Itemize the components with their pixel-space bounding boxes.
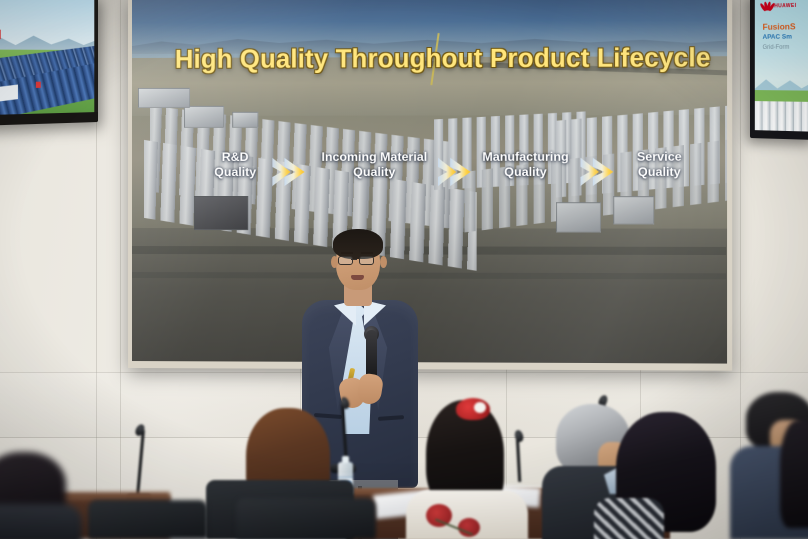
attendee-long-black-hair — [600, 412, 728, 539]
flow-stage-line2: Quality — [615, 165, 703, 180]
flow-stage-rnd: R&D Quality — [196, 150, 274, 180]
flow-stage-manufacturing: Manufacturing Quality — [469, 150, 583, 180]
flow-stage-line2: Quality — [469, 165, 583, 180]
monitor-right-line2: APAC Sm — [763, 33, 792, 40]
slide-title: High Quality Throughout Product Lifecycl… — [174, 44, 712, 75]
flow-stage-line2: Quality — [196, 165, 274, 180]
attendee-chair — [88, 500, 208, 539]
eyeglasses-icon — [338, 256, 353, 265]
attendee-edge-right — [780, 420, 808, 539]
monitor-right: HUAWEI FusionS APAC Sm Grid-Form — [750, 0, 808, 140]
monitor-left — [0, 0, 98, 126]
huawei-flower-icon — [762, 1, 773, 11]
flow-stage-line1: R&D — [196, 150, 274, 165]
chevron-arrow-icon — [270, 152, 310, 192]
flow-stage-line1: Manufacturing — [469, 150, 583, 165]
flow-stage-service: Service Quality — [615, 150, 703, 180]
battery-cabinet — [232, 112, 258, 128]
speaker-mouth — [351, 275, 364, 280]
attendee-floral-blouse — [412, 398, 530, 539]
projection-screen-surface: High Quality Throughout Product Lifecycl… — [132, 0, 727, 364]
eyeglasses-icon — [359, 256, 374, 265]
chevron-arrow-icon — [578, 152, 619, 192]
monitor-left-screen — [0, 0, 94, 116]
speaker-eyebrow — [361, 252, 373, 254]
projection-screen: High Quality Throughout Product Lifecycl… — [128, 0, 732, 371]
attendee-clothing — [594, 498, 664, 539]
battery-cabinet — [138, 88, 190, 108]
eyeglasses-bridge — [351, 259, 357, 260]
monitor-right-line3: Grid-Form — [763, 45, 790, 51]
slide-process-flow: R&D Quality Incoming Material Quality — [190, 143, 718, 198]
battery-cabinet — [194, 196, 248, 230]
speaker-ear — [331, 256, 338, 268]
pv-marker — [0, 30, 1, 40]
monitor-right-line1: FusionS — [763, 21, 796, 32]
attendee-hair — [780, 420, 808, 528]
speaker-eyebrow — [341, 252, 353, 254]
huawei-wordmark: HUAWEI — [774, 3, 796, 10]
huawei-logo: HUAWEI — [762, 1, 797, 12]
attendee-chair — [236, 498, 376, 539]
wall-seam — [120, 0, 121, 539]
battery-cabinet — [184, 106, 224, 128]
flow-stage-line1: Service — [615, 150, 703, 165]
monitor-right-cabinets — [755, 101, 808, 132]
battery-cabinet — [556, 202, 601, 232]
flow-stage-line1: Incoming Material — [307, 150, 442, 165]
monitor-right-screen: HUAWEI FusionS APAC Sm Grid-Form — [755, 0, 808, 132]
flow-stage-line2: Quality — [307, 165, 442, 180]
flow-stage-incoming-material: Incoming Material Quality — [307, 150, 442, 180]
pv-marker — [36, 82, 41, 88]
attendee-clothing — [0, 504, 82, 539]
speaker-hair — [333, 229, 383, 259]
speaker-ear — [380, 256, 387, 268]
conference-room-photo: High Quality Throughout Product Lifecycl… — [0, 0, 808, 539]
hair-flower-accessory — [474, 402, 486, 413]
attendee-front-left — [0, 452, 70, 539]
battery-cabinet — [613, 196, 654, 224]
